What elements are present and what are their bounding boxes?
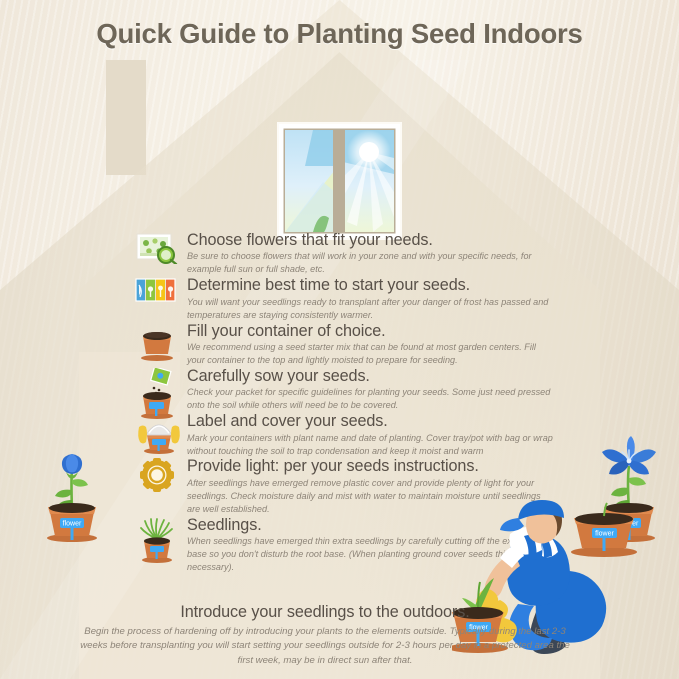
seed-catalog-icon [135, 232, 179, 276]
step-item: Carefully sow your seeds. Check your pac… [135, 368, 555, 412]
step-heading: Choose flowers that fit your needs. [187, 232, 555, 249]
blue-bud-flower-pot: flower [36, 432, 108, 544]
seed-packets-icon [135, 277, 179, 321]
step-heading: Provide light: per your seeds instructio… [187, 458, 555, 475]
footer-body: Begin the process of hardening off by in… [80, 625, 570, 669]
pot-tag-label: flower [63, 521, 82, 528]
sowing-seeds-icon [135, 368, 179, 412]
seedling-pot-icon [135, 517, 179, 561]
svg-text:flower: flower [595, 531, 614, 538]
step-body: Check your packet for specific guideline… [187, 386, 555, 412]
step-body: You will want your seedlings ready to tr… [187, 296, 555, 322]
step-body: Mark your containers with plant name and… [187, 432, 555, 458]
step-heading: Carefully sow your seeds. [187, 368, 555, 385]
step-item: Label and cover your seeds. Mark your co… [135, 413, 555, 457]
infographic-poster: Quick Guide to Planting Seed Indoors [0, 0, 679, 679]
step-item: Determine best time to start your seeds.… [135, 277, 555, 321]
step-item: Choose flowers that fit your needs. Be s… [135, 232, 555, 276]
footer-heading: Introduce your seedlings to the outdoors… [80, 604, 570, 622]
page-title: Quick Guide to Planting Seed Indoors [0, 18, 679, 50]
sunny-window-icon [277, 122, 402, 240]
footer-section: Introduce your seedlings to the outdoors… [80, 604, 570, 669]
background-pot: flower [571, 503, 637, 557]
step-body: We recommend using a seed starter mix th… [187, 341, 555, 367]
step-body: Be sure to choose flowers that will work… [187, 250, 555, 276]
step-heading: Label and cover your seeds. [187, 413, 555, 430]
step-heading: Determine best time to start your seeds. [187, 277, 555, 294]
step-heading: Fill your container of choice. [187, 323, 555, 340]
filled-pot-icon [135, 323, 179, 367]
sun-ring-icon [135, 458, 179, 502]
step-item: Fill your container of choice. We recomm… [135, 323, 555, 367]
covered-pot-gloves-icon [135, 413, 179, 457]
